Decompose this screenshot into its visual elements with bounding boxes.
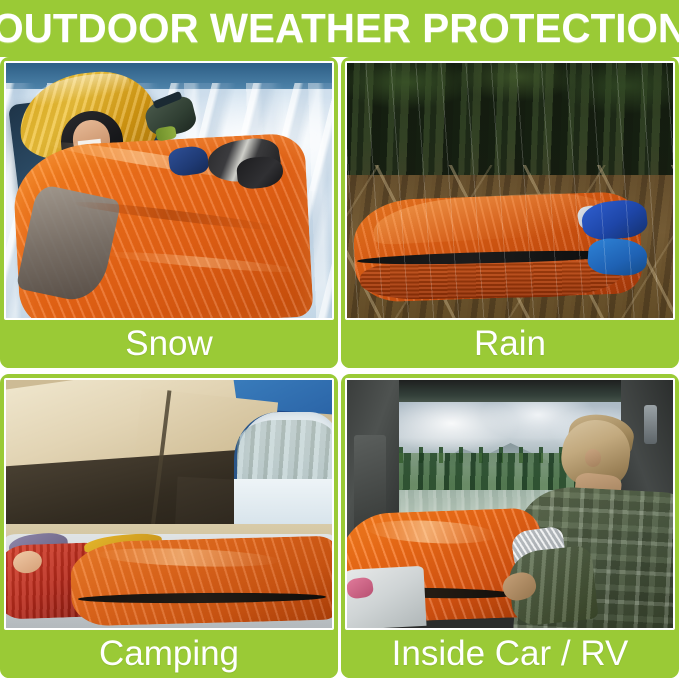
header-banner: OUTDOOR WEATHER PROTECTION <box>0 0 679 57</box>
page-title: OUTDOOR WEATHER PROTECTION <box>0 8 679 49</box>
panel-camping[interactable]: Camping <box>0 374 338 678</box>
person-ear <box>585 449 601 466</box>
panel-inside-car-rv-caption: Inside Car / RV <box>392 636 629 672</box>
panel-rain[interactable]: Rain <box>341 57 679 368</box>
rain-streaks <box>347 63 673 318</box>
panel-snow-photo-frame <box>4 61 334 320</box>
panel-rain-caption-band: Rain <box>345 320 675 368</box>
panel-inside-car-rv-photo-frame <box>345 378 675 630</box>
panel-inside-car-rv-caption-band: Inside Car / RV <box>345 630 675 678</box>
panel-rain-photo-frame <box>345 61 675 320</box>
panel-snow[interactable]: Snow <box>0 57 338 368</box>
panel-snow-caption: Snow <box>125 326 213 362</box>
rain-photo <box>347 63 673 318</box>
panel-camping-caption: Camping <box>99 636 239 672</box>
inside-car-rv-photo <box>347 380 673 628</box>
panel-snow-caption-band: Snow <box>4 320 334 368</box>
feature-grid: Snow <box>0 57 679 678</box>
window-snowy-trees <box>237 420 332 484</box>
panel-rain-caption: Rain <box>474 326 546 362</box>
van-door-handle <box>644 405 657 445</box>
product-infographic: OUTDOOR WEATHER PROTECTION <box>0 0 679 678</box>
panel-camping-photo-frame <box>4 378 334 630</box>
panel-inside-car-rv[interactable]: Inside Car / RV <box>341 374 679 678</box>
panel-camping-caption-band: Camping <box>4 630 334 678</box>
snow-photo <box>6 63 332 318</box>
camping-photo <box>6 380 332 628</box>
